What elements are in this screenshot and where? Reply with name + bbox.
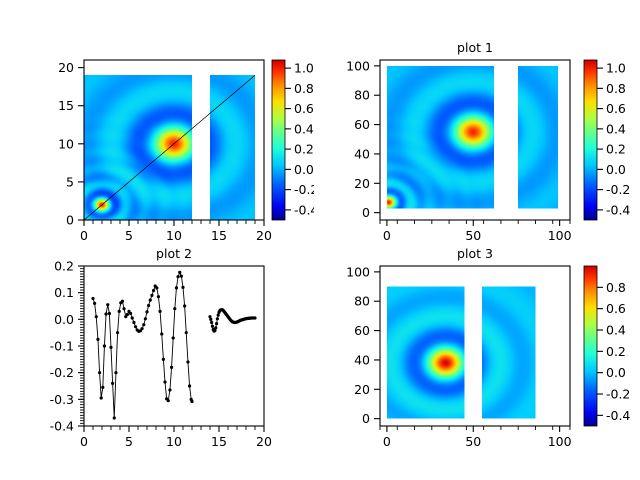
series-marker bbox=[163, 380, 166, 383]
heatmap-image bbox=[84, 60, 264, 220]
colorbar-tick-label: 0.4 bbox=[606, 323, 626, 338]
colorbar-tick-label: 0.0 bbox=[606, 365, 626, 380]
y-tick-label: 100 bbox=[346, 264, 370, 279]
heatmap-image bbox=[380, 266, 570, 426]
series-marker bbox=[210, 321, 213, 324]
x-tick-label: 100 bbox=[548, 434, 572, 449]
colorbar-tick-label: 1.0 bbox=[606, 61, 626, 76]
series-marker bbox=[253, 316, 256, 319]
colorbar-tick-label: -0.2 bbox=[294, 182, 314, 197]
y-tick-label: 0 bbox=[362, 205, 370, 220]
panel-plot-2: plot 2051015200.20.10.0-0.1-0.2-0.3-0.4 bbox=[14, 240, 314, 466]
series-marker bbox=[122, 307, 125, 310]
series-marker bbox=[170, 366, 173, 369]
x-tick-label: 100 bbox=[548, 228, 572, 240]
y-tick-label: 20 bbox=[354, 176, 370, 191]
colorbar-tick-label: 1.0 bbox=[294, 61, 314, 76]
series-marker bbox=[118, 310, 121, 313]
panel-plot-3: plot 30501000204060801000.80.60.40.20.0-… bbox=[326, 240, 632, 466]
y-tick-label: -0.1 bbox=[50, 339, 74, 354]
series-marker bbox=[109, 346, 112, 349]
series-marker bbox=[150, 294, 153, 297]
series-marker bbox=[214, 326, 217, 329]
x-tick-label: 0 bbox=[80, 228, 88, 240]
series-marker bbox=[155, 286, 158, 289]
series-marker bbox=[178, 271, 181, 274]
series-marker bbox=[100, 396, 103, 399]
colorbar-tick-label: 0.6 bbox=[294, 101, 314, 116]
y-tick-label: 0.1 bbox=[54, 285, 74, 300]
panel-title: plot 2 bbox=[156, 246, 192, 261]
series-marker bbox=[144, 317, 147, 320]
series-marker bbox=[113, 416, 116, 419]
y-tick-label: 40 bbox=[354, 146, 370, 161]
series-marker bbox=[152, 289, 155, 292]
series-marker bbox=[209, 318, 212, 321]
colorbar-tick-label: 0.2 bbox=[294, 142, 314, 157]
y-tick-label: 20 bbox=[354, 382, 370, 397]
panel-plot-1: plot 10501000204060801001.00.80.60.40.20… bbox=[326, 14, 632, 240]
colorbar-tick-label: 0.4 bbox=[606, 121, 626, 136]
series-marker bbox=[132, 321, 135, 324]
panel-title: plot 1 bbox=[457, 40, 493, 55]
x-tick-label: 0 bbox=[80, 434, 88, 449]
colorbar-gradient bbox=[272, 60, 285, 220]
y-tick-label: 0 bbox=[66, 213, 74, 228]
series-marker bbox=[145, 310, 148, 313]
series-marker bbox=[147, 304, 150, 307]
series-marker bbox=[96, 338, 99, 341]
y-tick-label: 5 bbox=[66, 174, 74, 189]
colorbar-tick-label: -0.4 bbox=[294, 202, 314, 217]
y-tick-label: 60 bbox=[354, 323, 370, 338]
y-tick-label: 40 bbox=[354, 352, 370, 367]
series-marker bbox=[149, 299, 152, 302]
series-marker bbox=[114, 371, 117, 374]
series-marker bbox=[104, 312, 107, 315]
x-tick-label: 20 bbox=[256, 228, 272, 240]
series-marker bbox=[95, 315, 98, 318]
x-tick-label: 50 bbox=[465, 434, 481, 449]
series-marker bbox=[173, 307, 176, 310]
colorbar-tick-label: 0.4 bbox=[294, 121, 314, 136]
y-tick-label: -0.2 bbox=[50, 365, 74, 380]
series-marker bbox=[215, 322, 218, 325]
y-tick-label: 60 bbox=[354, 117, 370, 132]
series-marker bbox=[140, 327, 143, 330]
series-marker bbox=[190, 400, 193, 403]
x-tick-label: 50 bbox=[465, 228, 481, 240]
colorbar-tick-label: -0.4 bbox=[606, 202, 630, 217]
series-marker bbox=[158, 310, 161, 313]
series-marker bbox=[186, 360, 189, 363]
panel-title: plot 3 bbox=[457, 246, 493, 261]
colorbar-tick-label: -0.2 bbox=[606, 182, 630, 197]
x-tick-label: 0 bbox=[383, 228, 391, 240]
y-tick-label: 0.2 bbox=[54, 259, 74, 274]
colorbar-tick-label: 0.0 bbox=[294, 162, 314, 177]
series-marker bbox=[157, 295, 160, 298]
y-tick-label: -0.4 bbox=[50, 419, 74, 434]
series-marker bbox=[175, 286, 178, 289]
series-marker bbox=[129, 312, 132, 315]
colorbar-tick-label: -0.2 bbox=[606, 387, 630, 402]
series-marker bbox=[106, 303, 109, 306]
y-tick-label: -0.3 bbox=[50, 392, 74, 407]
series-line bbox=[93, 272, 192, 418]
x-tick-label: 15 bbox=[211, 434, 227, 449]
colorbar-tick-label: 0.0 bbox=[606, 162, 626, 177]
series-marker bbox=[168, 388, 171, 391]
x-tick-label: 5 bbox=[125, 434, 133, 449]
colorbar-tick-label: 0.8 bbox=[294, 81, 314, 96]
series-marker bbox=[142, 323, 145, 326]
series-marker bbox=[134, 325, 137, 328]
y-tick-label: 10 bbox=[58, 136, 74, 151]
series-marker bbox=[167, 399, 170, 402]
x-tick-label: 5 bbox=[125, 228, 133, 240]
x-tick-label: 10 bbox=[166, 228, 182, 240]
colorbar-tick-label: 0.2 bbox=[606, 142, 626, 157]
series-marker bbox=[111, 382, 114, 385]
colorbar-tick-label: 0.6 bbox=[606, 101, 626, 116]
series-marker bbox=[181, 286, 184, 289]
series-marker bbox=[172, 336, 175, 339]
figure-canvas: 05101520051015201.00.80.60.40.20.0-0.2-0… bbox=[0, 0, 640, 480]
y-tick-label: 0.0 bbox=[54, 312, 74, 327]
y-tick-label: 80 bbox=[354, 88, 370, 103]
colorbar-tick-label: 0.8 bbox=[606, 280, 626, 295]
x-tick-label: 10 bbox=[166, 434, 182, 449]
series-marker bbox=[188, 384, 191, 387]
y-tick-label: 100 bbox=[346, 58, 370, 73]
series-marker bbox=[211, 325, 214, 328]
series-marker bbox=[93, 302, 96, 305]
y-tick-label: 80 bbox=[354, 294, 370, 309]
series-marker bbox=[180, 275, 183, 278]
colorbar-tick-label: -0.4 bbox=[606, 408, 630, 423]
series-marker bbox=[108, 312, 111, 315]
colorbar-gradient bbox=[584, 266, 597, 426]
series-marker bbox=[131, 316, 134, 319]
series-marker bbox=[176, 275, 179, 278]
panel-plot-0: 05101520051015201.00.80.60.40.20.0-0.2-0… bbox=[14, 14, 314, 240]
y-tick-label: 0 bbox=[362, 411, 370, 426]
series-marker bbox=[183, 304, 186, 307]
x-tick-label: 15 bbox=[211, 228, 227, 240]
series-marker bbox=[162, 358, 165, 361]
series-marker bbox=[91, 297, 94, 300]
series-marker bbox=[160, 332, 163, 335]
series-marker bbox=[101, 386, 104, 389]
series-marker bbox=[116, 331, 119, 334]
heatmap-image bbox=[380, 60, 570, 220]
colorbar-tick-label: 0.8 bbox=[606, 81, 626, 96]
colorbar-tick-label: 0.2 bbox=[606, 344, 626, 359]
series-marker bbox=[126, 313, 129, 316]
series-marker bbox=[98, 371, 101, 374]
x-tick-label: 20 bbox=[256, 434, 272, 449]
colorbar-tick-label: 0.6 bbox=[606, 301, 626, 316]
series-marker bbox=[103, 344, 106, 347]
y-tick-label: 15 bbox=[58, 98, 74, 113]
series-marker bbox=[185, 331, 188, 334]
series-marker bbox=[216, 317, 219, 320]
x-tick-label: 0 bbox=[383, 434, 391, 449]
colorbar-gradient bbox=[584, 60, 597, 220]
series-marker bbox=[121, 300, 124, 303]
y-tick-label: 20 bbox=[58, 60, 74, 75]
